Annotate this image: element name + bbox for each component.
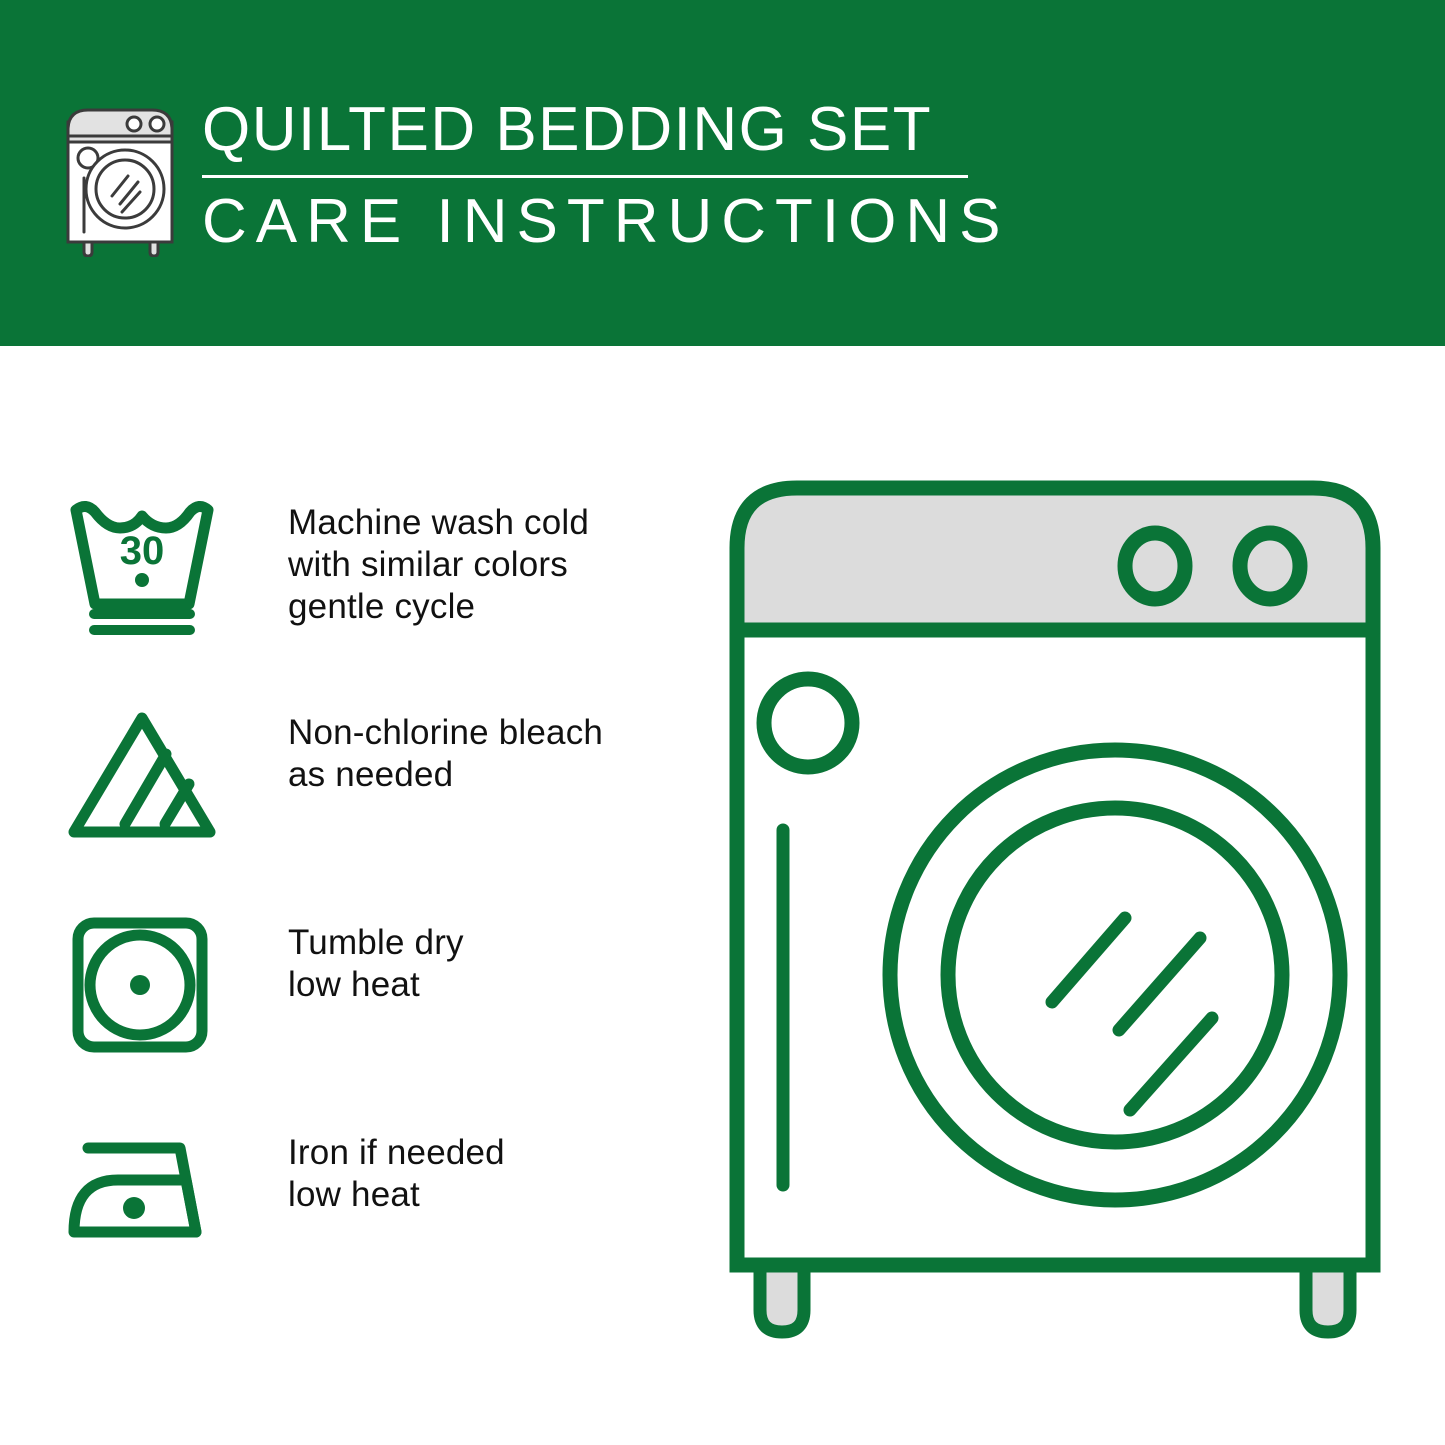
care-item-iron-label: Iron if needed low heat bbox=[232, 1110, 505, 1216]
front-load-washing-machine-illustration bbox=[715, 470, 1415, 1370]
header-content: QUILTED BEDDING SET CARE INSTRUCTIONS bbox=[62, 92, 1009, 258]
wash-temperature-value: 30 bbox=[120, 529, 165, 573]
tumble-dry-low-heat-icon bbox=[62, 900, 232, 1057]
care-line: low heat bbox=[288, 1174, 505, 1216]
non-chlorine-bleach-triangle-icon bbox=[62, 690, 232, 847]
care-item-bleach: Non-chlorine bleach as needed bbox=[62, 690, 702, 900]
care-item-tumble-dry: Tumble dry low heat bbox=[62, 900, 702, 1110]
care-instruction-list: 30 Machine wash cold with similar colors… bbox=[62, 480, 702, 1320]
care-line: Tumble dry bbox=[288, 922, 464, 964]
care-item-tumble-dry-label: Tumble dry low heat bbox=[232, 900, 464, 1006]
control-knob-left bbox=[1125, 533, 1185, 599]
care-line: gentle cycle bbox=[288, 586, 589, 628]
page-subtitle: CARE INSTRUCTIONS bbox=[202, 186, 1009, 258]
care-item-wash-label: Machine wash cold with similar colors ge… bbox=[232, 480, 589, 628]
header-banner: QUILTED BEDDING SET CARE INSTRUCTIONS bbox=[0, 0, 1445, 346]
iron-low-heat-icon bbox=[62, 1110, 232, 1267]
care-item-iron: Iron if needed low heat bbox=[62, 1110, 702, 1320]
title-divider bbox=[202, 175, 968, 178]
care-line: Non-chlorine bleach bbox=[288, 712, 603, 754]
header-text-group: QUILTED BEDDING SET CARE INSTRUCTIONS bbox=[202, 92, 1009, 258]
washing-machine-icon bbox=[62, 92, 184, 257]
care-instructions-infographic: QUILTED BEDDING SET CARE INSTRUCTIONS 30… bbox=[0, 0, 1445, 1445]
care-line: as needed bbox=[288, 754, 603, 796]
care-item-wash: 30 Machine wash cold with similar colors… bbox=[62, 480, 702, 690]
door-inner-ring bbox=[948, 808, 1282, 1142]
control-knob-right bbox=[1240, 533, 1300, 599]
care-item-bleach-label: Non-chlorine bleach as needed bbox=[232, 690, 603, 796]
care-line: Iron if needed bbox=[288, 1132, 505, 1174]
care-line: with similar colors bbox=[288, 544, 589, 586]
indicator-light bbox=[764, 679, 852, 767]
wash-tub-30-gentle-icon: 30 bbox=[62, 480, 232, 637]
care-line: low heat bbox=[288, 964, 464, 1006]
page-title: QUILTED BEDDING SET bbox=[202, 94, 1009, 166]
care-line: Machine wash cold bbox=[288, 502, 589, 544]
